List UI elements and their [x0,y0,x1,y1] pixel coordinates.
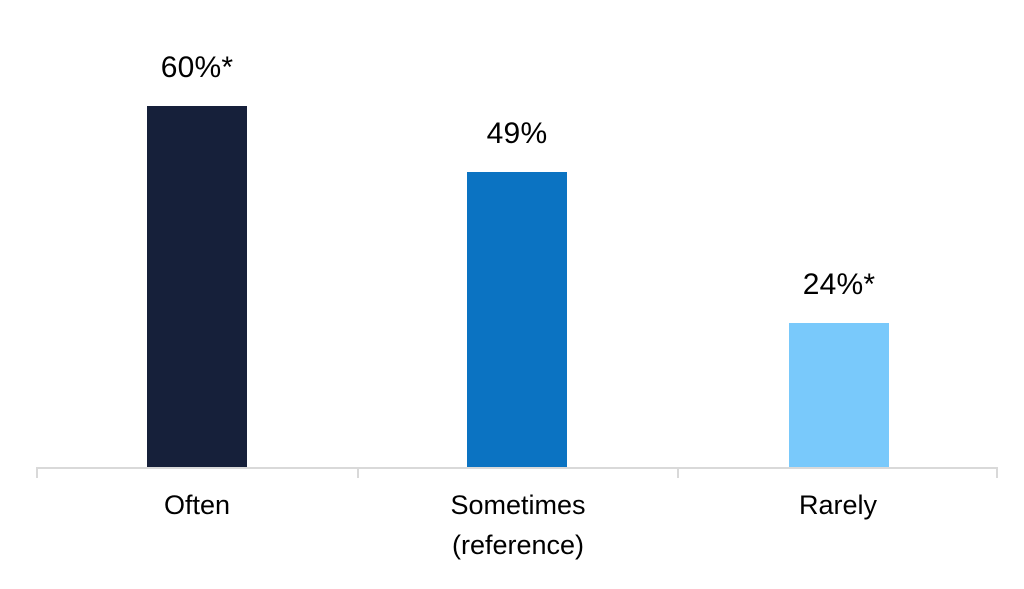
bar-often[interactable] [147,106,247,467]
x-axis-label-rarely: Rarely [678,485,998,525]
x-axis-tick [996,467,998,478]
x-axis-tick [36,467,38,478]
bar-rarely[interactable] [789,323,889,467]
x-axis-label-line: Rarely [678,485,998,525]
x-axis-label-sometimes: Sometimes (reference) [358,485,678,565]
x-axis-tick [677,467,679,478]
bar-value-label-rarely: 24%* [739,269,939,301]
plot-area: 60%* 49% 24%* Often Sometimes (reference… [0,0,1024,589]
x-axis-label-line-2: (reference) [358,525,678,565]
x-axis-label-line: Often [37,485,357,525]
x-axis-line [36,467,998,469]
x-axis-label-line: Sometimes [358,485,678,525]
bar-sometimes[interactable] [467,172,567,467]
bar-value-label-often: 60%* [97,52,297,84]
x-axis-tick [357,467,359,478]
bar-chart: 60%* 49% 24%* Often Sometimes (reference… [0,0,1024,589]
x-axis-label-often: Often [37,485,357,525]
bar-value-label-sometimes: 49% [417,118,617,150]
